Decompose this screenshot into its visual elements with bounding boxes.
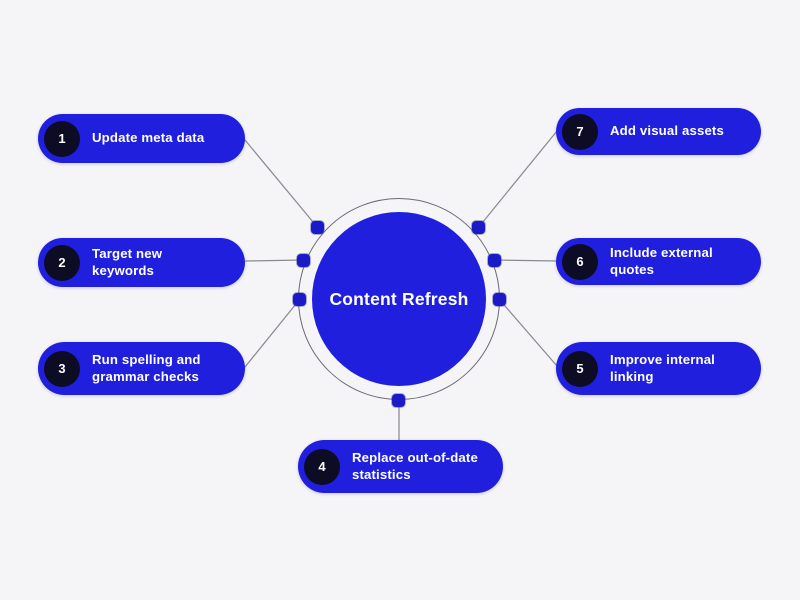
connector-line-5: [499, 299, 557, 366]
hub-dot-3: [293, 293, 306, 306]
node-badge-5: 5: [562, 351, 598, 387]
node-badge-7: 7: [562, 114, 598, 150]
node-label-4: Replace out-of-datestatistics: [352, 450, 478, 484]
node-label-5: Improve internallinking: [610, 352, 715, 386]
node-badge-3: 3: [44, 351, 80, 387]
diagram-canvas: Content Refresh 1 Update meta data 2 Tar…: [0, 0, 800, 600]
hub-label: Content Refresh: [329, 289, 468, 310]
node-label-6: Include external quotes: [610, 245, 743, 279]
node-badge-6: 6: [562, 244, 598, 280]
node-label-1: Update meta data: [92, 130, 204, 147]
node-label-7: Add visual assets: [610, 123, 724, 140]
hub-dot-7: [472, 221, 485, 234]
node-pill-7[interactable]: 7 Add visual assets: [556, 108, 761, 155]
hub-dot-5: [493, 293, 506, 306]
node-pill-5[interactable]: 5 Improve internallinking: [556, 342, 761, 395]
node-pill-4[interactable]: 4 Replace out-of-datestatistics: [298, 440, 503, 493]
connector-line-1: [245, 140, 318, 228]
node-badge-1: 1: [44, 121, 80, 157]
connector-line-6: [494, 260, 557, 261]
connector-line-3: [245, 299, 300, 367]
node-badge-2: 2: [44, 245, 80, 281]
connector-line-7: [478, 131, 557, 228]
node-pill-1[interactable]: 1 Update meta data: [38, 114, 245, 163]
hub-dot-2: [297, 254, 310, 267]
hub-dot-1: [311, 221, 324, 234]
node-pill-2[interactable]: 2 Target new keywords: [38, 238, 245, 287]
hub-dot-6: [488, 254, 501, 267]
node-pill-3[interactable]: 3 Run spelling andgrammar checks: [38, 342, 245, 395]
hub-dot-4: [392, 394, 405, 407]
node-label-2: Target new keywords: [92, 246, 227, 280]
hub-core-circle[interactable]: Content Refresh: [312, 212, 486, 386]
node-badge-4: 4: [304, 449, 340, 485]
node-pill-6[interactable]: 6 Include external quotes: [556, 238, 761, 285]
node-label-3: Run spelling andgrammar checks: [92, 352, 201, 386]
connector-line-2: [245, 260, 304, 261]
